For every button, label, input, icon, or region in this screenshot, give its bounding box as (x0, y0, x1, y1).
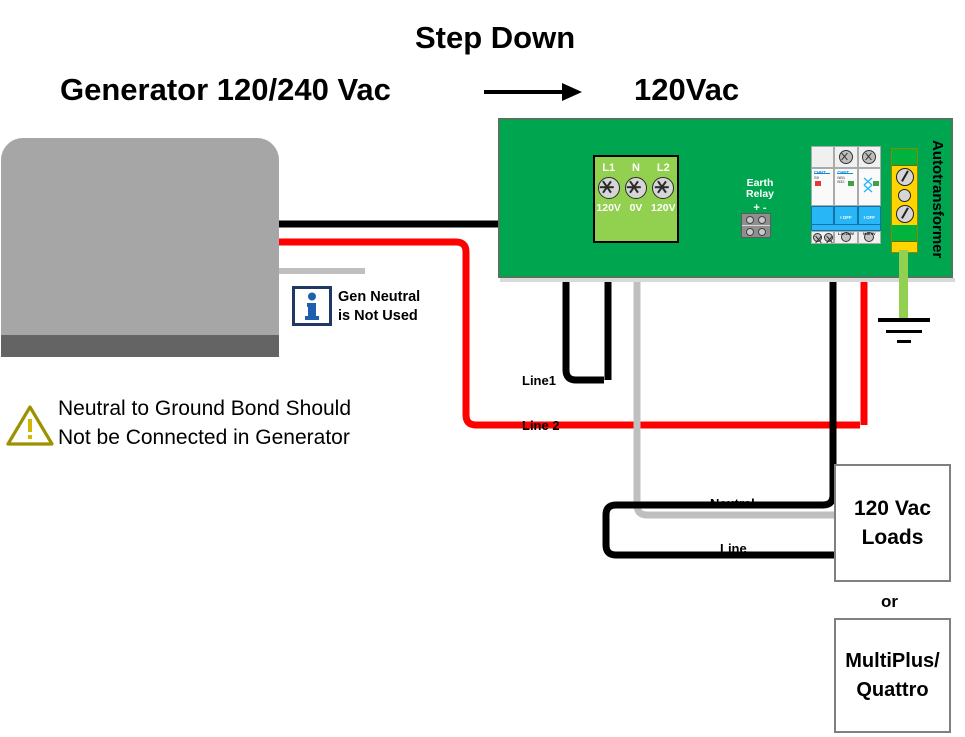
breaker-module-3 (858, 168, 881, 206)
breaker-led-red (815, 181, 821, 186)
earth-relay-dot (758, 216, 766, 224)
load-box-120vac: 120 Vac Loads (834, 464, 951, 582)
breaker-module-1: CHNT S9 (811, 168, 834, 206)
breaker-top-terminals (811, 146, 881, 168)
ground-symbol-bar-3 (897, 340, 911, 343)
breaker-module-2: CHNT NB1 B32 (834, 168, 857, 206)
breaker-led-green (848, 181, 854, 186)
or-label: or (881, 592, 898, 612)
breaker-bottom-cell-3: N-In 0V (858, 231, 881, 244)
breaker-top-cell-1 (811, 146, 834, 168)
breaker-terminal-nin: N-In 0V (859, 233, 880, 237)
ground-terminal-bar[interactable] (891, 148, 918, 253)
alt-box-line2: Quattro (845, 676, 939, 705)
ground-symbol-bar-2 (886, 330, 922, 333)
terminal-label-n: N (622, 162, 649, 174)
load-box-multiplus-quattro: MultiPlus/ Quattro (834, 618, 951, 733)
load-box-line1: 120 Vac (854, 494, 931, 523)
ground-symbol-bar-1 (878, 318, 930, 322)
breaker-model-1: S9 (814, 175, 819, 180)
breaker-top-screw[interactable] (862, 150, 876, 164)
terminal-screw-n[interactable] (625, 177, 647, 199)
breaker-lever-tie-bar[interactable] (811, 224, 881, 231)
wire-label-line: Line (720, 541, 747, 556)
wire-label-neutral: Neutral (710, 496, 755, 511)
breaker-top-cell-3 (858, 146, 881, 168)
wiring-diagram (0, 0, 965, 737)
breaker-model-3: B32 (837, 179, 844, 184)
autotransformer-board (498, 118, 953, 278)
earth-relay-connector-bottom (742, 226, 770, 237)
terminal-screw-l2[interactable] (652, 177, 674, 199)
terminal-value-l2: 120V (650, 202, 677, 214)
ground-bar-screw[interactable] (896, 168, 914, 186)
breaker-bottom-cell-2: L-In 240V (834, 231, 857, 244)
autotransformer-label: Autotransformer (929, 140, 946, 258)
earth-relay-label: Earth Relay (735, 178, 785, 200)
breaker-bottom-screw[interactable] (813, 233, 822, 242)
breaker-bottom-cell-1 (811, 231, 834, 244)
wire-label-line1: Line1 (522, 373, 556, 388)
breaker-led-green (873, 181, 879, 186)
load-box-line2: Loads (854, 523, 931, 552)
terminal-label-l1: L1 (595, 162, 622, 174)
earth-relay-dot (746, 228, 754, 236)
breaker-top-cell-2 (834, 146, 857, 168)
terminal-value-l1: 120V (595, 202, 622, 214)
ground-bar-segment (892, 149, 917, 166)
terminal-screw-l1[interactable] (598, 177, 620, 199)
terminal-block[interactable]: L1 N L2 120V 0V 120V (593, 155, 679, 243)
breaker-face: CHNT S9 CHNT NB1 B32 (811, 168, 881, 206)
earth-relay-line2: Relay (735, 189, 785, 200)
earth-relay-connector[interactable] (741, 213, 771, 238)
terminal-value-n: 0V (622, 202, 649, 214)
breaker-bottom-terminals: L-In 240V N-In 0V (811, 231, 881, 244)
circuit-breaker[interactable]: CHNT S9 CHNT NB1 B32 I OFF I OFF (811, 146, 881, 244)
ground-wire (899, 250, 908, 320)
ground-bar-segment (892, 225, 917, 242)
ground-bar-screw-small[interactable] (898, 189, 911, 202)
breaker-lever-text: I OFF (840, 215, 852, 220)
ground-bar-screw[interactable] (896, 205, 914, 223)
breaker-top-screw[interactable] (839, 150, 853, 164)
board-shadow (500, 278, 955, 282)
earth-relay-dot (758, 228, 766, 236)
breaker-bottom-screw[interactable] (824, 233, 833, 242)
earth-relay-dot (746, 216, 754, 224)
breaker-lever-text: I OFF (864, 215, 876, 220)
earth-relay-connector-top (742, 214, 770, 225)
terminal-label-l2: L2 (650, 162, 677, 174)
wire-label-line2: Line 2 (522, 418, 560, 433)
alt-box-line1: MultiPlus/ (845, 647, 939, 676)
breaker-terminal-lin: L-In 240V (835, 233, 856, 237)
